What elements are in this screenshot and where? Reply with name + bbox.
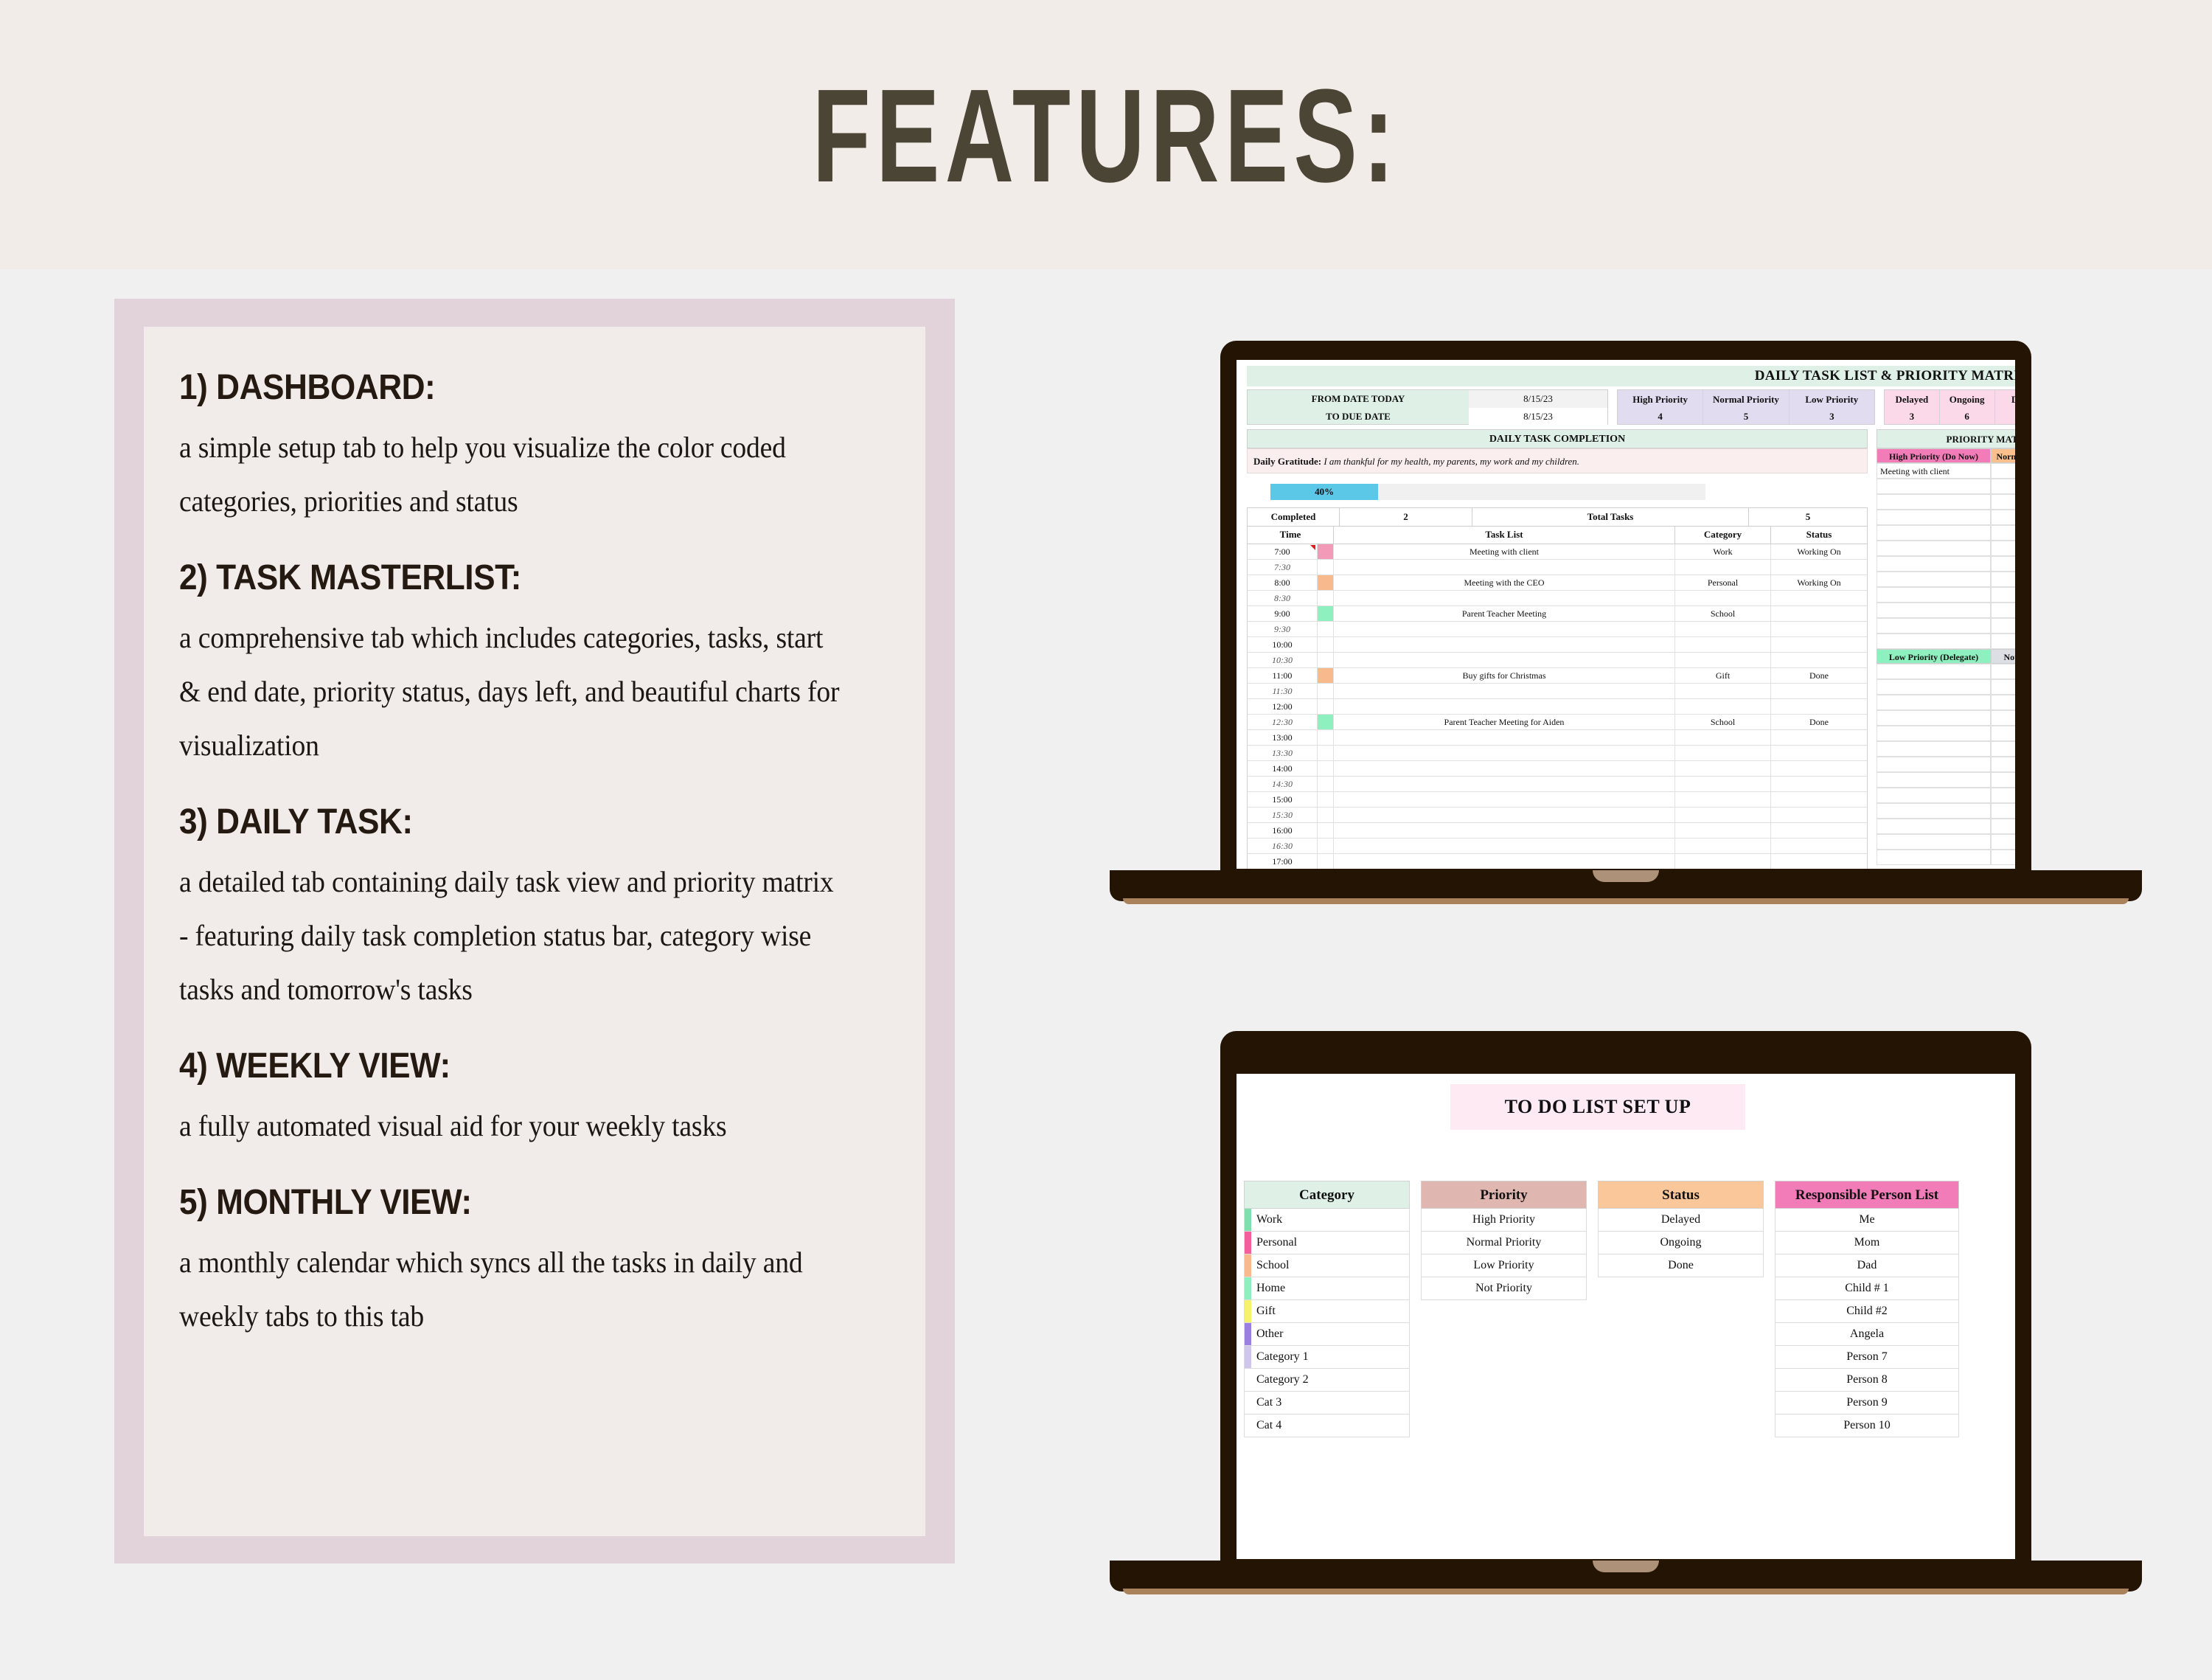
col-time: Time — [1248, 527, 1334, 544]
matrix-row[interactable] — [1877, 587, 2015, 603]
col-task: Task List — [1334, 527, 1675, 544]
row-task[interactable] — [1334, 653, 1675, 667]
row-time: 12:00 — [1248, 699, 1318, 714]
feature-heading: 4) WEEKLY VIEW: — [179, 1046, 833, 1087]
from-date-label: FROM DATE TODAY — [1248, 390, 1469, 408]
quadrant-cell-not[interactable] — [1991, 679, 2015, 695]
row-task[interactable] — [1334, 761, 1675, 776]
row-time: 17:00 — [1248, 854, 1318, 869]
quadrant-cell-normal[interactable] — [1991, 603, 2015, 618]
priority-matrix-header: PRIORITY MATRIX — [1877, 429, 2015, 448]
row-color-swatch — [1318, 637, 1334, 652]
table-row[interactable]: 15:30 — [1247, 808, 1868, 823]
column-header: Priority — [1421, 1181, 1587, 1209]
row-color-swatch — [1318, 761, 1334, 776]
feature-heading: 5) MONTHLY VIEW: — [179, 1182, 833, 1223]
feature-body: a comprehensive tab which includes categ… — [179, 611, 847, 772]
row-category[interactable] — [1675, 777, 1771, 791]
table-row[interactable]: 9:00Parent Teacher MeetingSchool — [1247, 606, 1868, 622]
row-task[interactable] — [1334, 823, 1675, 838]
matrix-row[interactable] — [1877, 664, 2015, 679]
quadrant-cell-high[interactable] — [1877, 603, 1991, 618]
row-status[interactable] — [1771, 730, 1867, 745]
row-status[interactable] — [1771, 746, 1867, 760]
feature-heading: 2) TASK MASTERLIST: — [179, 558, 833, 599]
row-time: 11:00 — [1248, 668, 1318, 683]
matrix-row[interactable] — [1877, 634, 2015, 649]
row-status[interactable] — [1771, 684, 1867, 698]
quadrant-cell-not[interactable] — [1991, 757, 2015, 772]
feature-body: a fully automated visual aid for your we… — [179, 1099, 847, 1153]
quadrant-cell-normal[interactable] — [1991, 618, 2015, 634]
quadrant-cell-high[interactable] — [1877, 556, 1991, 572]
row-category[interactable] — [1675, 684, 1771, 698]
list-item[interactable]: Cat 3 — [1244, 1392, 1410, 1415]
status-stat: Done5 — [1995, 390, 2016, 424]
list-item[interactable]: Child #2 — [1775, 1300, 1959, 1323]
list-item[interactable]: Person 10 — [1775, 1415, 1959, 1437]
row-status[interactable] — [1771, 854, 1867, 869]
category-color-stripe — [1245, 1232, 1251, 1254]
col-category: Category — [1675, 527, 1771, 544]
feature-item-3: 3) DAILY TASK: a detailed tab containing… — [179, 802, 890, 1016]
row-time: 13:30 — [1248, 746, 1318, 760]
row-color-swatch — [1318, 699, 1334, 714]
feature-item-4: 4) WEEKLY VIEW: a fully automated visual… — [179, 1046, 890, 1153]
row-time: 14:30 — [1248, 777, 1318, 791]
row-category[interactable] — [1675, 792, 1771, 807]
row-status[interactable] — [1771, 839, 1867, 853]
list-item[interactable]: Other — [1244, 1323, 1410, 1346]
matrix-row[interactable]: Meeting with client — [1877, 463, 2015, 479]
row-category[interactable] — [1675, 854, 1771, 869]
quadrant-cell-normal[interactable] — [1991, 634, 2015, 649]
row-task[interactable] — [1334, 777, 1675, 791]
quadrant-cell-not[interactable] — [1991, 803, 2015, 819]
from-date-value[interactable]: 8/15/23 — [1469, 390, 1607, 408]
row-task[interactable] — [1334, 622, 1675, 636]
quadrant-cell-low[interactable] — [1877, 819, 1991, 834]
to-date-label: TO DUE DATE — [1248, 408, 1469, 426]
features-card: 1) DASHBOARD: a simple setup tab to help… — [144, 327, 925, 1536]
quadrant-cell-not[interactable] — [1991, 834, 2015, 850]
feature-item-5: 5) MONTHLY VIEW: a monthly calendar whic… — [179, 1182, 890, 1343]
matrix-row[interactable] — [1877, 788, 2015, 803]
task-table-header: TimeTask ListCategoryStatus — [1247, 527, 1868, 544]
laptop-base-lip — [1123, 898, 2129, 904]
list-item[interactable]: Personal — [1244, 1232, 1410, 1254]
row-status[interactable] — [1771, 823, 1867, 838]
row-status[interactable]: Working On — [1771, 544, 1867, 559]
status-stat: Ongoing6 — [1940, 390, 1995, 424]
column-header: Category — [1244, 1181, 1410, 1209]
date-range-box: FROM DATE TODAY8/15/23TO DUE DATE8/15/23 — [1247, 389, 1608, 425]
sheet-title: DAILY TASK LIST & PRIORITY MATRIX — [1247, 366, 2015, 386]
matrix-row[interactable] — [1877, 819, 2015, 834]
matrix-row[interactable] — [1877, 741, 2015, 757]
priority-stat: Low Priority3 — [1790, 390, 1874, 424]
quadrant-cell-low[interactable] — [1877, 772, 1991, 788]
table-row[interactable]: 17:00 — [1247, 854, 1868, 869]
row-status[interactable]: Done — [1771, 715, 1867, 729]
quadrant-label-low[interactable]: Low Priority (Delegate) — [1877, 649, 1991, 664]
row-task[interactable]: Meeting with client — [1334, 544, 1675, 559]
priority-stat: High Priority4 — [1618, 390, 1703, 424]
laptop-screen-setup: TO DO LIST SET UPCategoryWorkPersonalSch… — [1237, 1074, 2015, 1559]
list-item[interactable]: Person 7 — [1775, 1346, 1959, 1369]
quadrant-cell-low[interactable] — [1877, 788, 1991, 803]
row-category[interactable] — [1675, 839, 1771, 853]
row-category[interactable] — [1675, 746, 1771, 760]
quadrant-cell-high[interactable] — [1877, 618, 1991, 634]
row-category[interactable] — [1675, 761, 1771, 776]
quadrant-cell-normal[interactable] — [1991, 572, 2015, 587]
matrix-row[interactable] — [1877, 572, 2015, 587]
table-row[interactable]: 13:30 — [1247, 746, 1868, 761]
completion-header: DAILY TASK COMPLETION — [1247, 429, 1868, 448]
spreadsheet-setup: TO DO LIST SET UPCategoryWorkPersonalSch… — [1237, 1074, 2015, 1559]
quadrant-cell-high[interactable] — [1877, 572, 1991, 587]
row-task[interactable] — [1334, 730, 1675, 745]
matrix-row[interactable] — [1877, 556, 2015, 572]
quadrant-cell-low[interactable] — [1877, 803, 1991, 819]
row-task[interactable] — [1334, 839, 1675, 853]
table-row[interactable]: 10:30 — [1247, 653, 1868, 668]
row-color-swatch — [1318, 668, 1334, 683]
laptop-setup: TO DO LIST SET UPCategoryWorkPersonalSch… — [1110, 1031, 2142, 1592]
list-item[interactable]: Work — [1244, 1209, 1410, 1232]
matrix-row[interactable] — [1877, 695, 2015, 710]
quadrant-cell-low[interactable] — [1877, 757, 1991, 772]
row-category[interactable] — [1675, 823, 1771, 838]
feature-item-2: 2) TASK MASTERLIST: a comprehensive tab … — [179, 558, 890, 772]
to-date-value[interactable]: 8/15/23 — [1469, 408, 1607, 426]
table-row[interactable]: 7:30 — [1247, 560, 1868, 575]
quadrant-cell-low[interactable] — [1877, 710, 1991, 726]
row-time: 16:30 — [1248, 839, 1318, 853]
row-task[interactable] — [1334, 560, 1675, 575]
quadrant-cell-high[interactable] — [1877, 494, 1991, 510]
table-row[interactable]: 12:30Parent Teacher Meeting for AidenSch… — [1247, 715, 1868, 730]
table-row[interactable]: 11:30 — [1247, 684, 1868, 699]
row-status[interactable] — [1771, 777, 1867, 791]
feature-heading: 3) DAILY TASK: — [179, 802, 833, 843]
matrix-top-headers: High Priority (Do Now)Normal Priority (S… — [1877, 448, 2015, 463]
row-time: 10:30 — [1248, 653, 1318, 667]
quadrant-cell-not[interactable] — [1991, 726, 2015, 741]
quadrant-cell-not[interactable] — [1991, 664, 2015, 679]
row-status[interactable]: Done — [1771, 668, 1867, 683]
matrix-row[interactable] — [1877, 772, 2015, 788]
row-status[interactable] — [1771, 560, 1867, 575]
table-row[interactable]: 11:00Buy gifts for ChristmasGiftDone — [1247, 668, 1868, 684]
row-category[interactable]: Work — [1675, 544, 1771, 559]
quadrant-cell-low[interactable] — [1877, 834, 1991, 850]
list-item[interactable]: Category 1 — [1244, 1346, 1410, 1369]
matrix-row[interactable] — [1877, 603, 2015, 618]
quadrant-cell-not[interactable] — [1991, 788, 2015, 803]
row-status[interactable] — [1771, 653, 1867, 667]
total-tasks-value: 5 — [1749, 508, 1867, 526]
row-color-swatch — [1318, 622, 1334, 636]
table-row[interactable]: 10:00 — [1247, 637, 1868, 653]
row-task[interactable]: Meeting with the CEO — [1334, 575, 1675, 590]
row-category[interactable]: Gift — [1675, 668, 1771, 683]
row-category[interactable] — [1675, 808, 1771, 822]
row-status[interactable] — [1771, 591, 1867, 605]
row-time: 12:30 — [1248, 715, 1318, 729]
feature-body: a simple setup tab to help you visualize… — [179, 420, 847, 528]
matrix-row[interactable] — [1877, 494, 2015, 510]
matrix-row[interactable] — [1877, 479, 2015, 494]
col-status: Status — [1771, 527, 1867, 544]
quadrant-cell-normal[interactable] — [1991, 510, 2015, 525]
table-row[interactable]: 8:30 — [1247, 591, 1868, 606]
row-color-swatch — [1318, 591, 1334, 605]
feature-body: a monthly calendar which syncs all the t… — [179, 1235, 847, 1343]
list-item[interactable]: Not Priority — [1421, 1277, 1587, 1300]
total-tasks-label: Total Tasks — [1472, 508, 1749, 526]
row-color-swatch — [1318, 560, 1334, 575]
matrix-row[interactable] — [1877, 850, 2015, 865]
quadrant-cell-low[interactable] — [1877, 695, 1991, 710]
row-task[interactable] — [1334, 746, 1675, 760]
matrix-row[interactable] — [1877, 726, 2015, 741]
row-task[interactable]: Parent Teacher Meeting for Aiden — [1334, 715, 1675, 729]
table-row[interactable]: 9:30 — [1247, 622, 1868, 637]
quadrant-cell-normal[interactable] — [1991, 541, 2015, 556]
laptop-daily-task: DAILY TASK LIST & PRIORITY MATRIXFROM DA… — [1110, 341, 2142, 901]
row-time: 8:00 — [1248, 575, 1318, 590]
row-time: 16:00 — [1248, 823, 1318, 838]
row-status[interactable]: Working On — [1771, 575, 1867, 590]
status-stats-row: Delayed3Ongoing6Done5Total Tas14 — [1884, 389, 2015, 425]
row-color-swatch — [1318, 777, 1334, 791]
matrix-row[interactable] — [1877, 803, 2015, 819]
laptop-screen-daily: DAILY TASK LIST & PRIORITY MATRIXFROM DA… — [1237, 360, 2015, 869]
setup-column-responsible-person-list: Responsible Person ListMeMomDadChild # 1… — [1775, 1181, 1959, 1437]
row-status[interactable] — [1771, 761, 1867, 776]
table-row[interactable]: 16:30 — [1247, 839, 1868, 854]
list-item[interactable]: Dad — [1775, 1254, 1959, 1277]
row-time: 9:00 — [1248, 606, 1318, 621]
row-color-swatch — [1318, 854, 1334, 869]
matrix-row[interactable] — [1877, 710, 2015, 726]
quadrant-cell-not[interactable] — [1991, 850, 2015, 865]
category-color-stripe — [1245, 1209, 1251, 1231]
matrix-row[interactable] — [1877, 618, 2015, 634]
quadrant-cell-high[interactable] — [1877, 525, 1991, 541]
quadrant-cell-low[interactable] — [1877, 679, 1991, 695]
row-color-swatch — [1318, 653, 1334, 667]
list-item[interactable]: Delayed — [1598, 1209, 1764, 1232]
list-item[interactable]: Cat 4 — [1244, 1415, 1410, 1437]
quadrant-cell-high[interactable] — [1877, 587, 1991, 603]
quadrant-cell-normal[interactable] — [1991, 587, 2015, 603]
row-color-swatch — [1318, 684, 1334, 698]
row-color-swatch — [1318, 730, 1334, 745]
list-item[interactable]: Done — [1598, 1254, 1764, 1277]
list-item[interactable]: Ongoing — [1598, 1232, 1764, 1254]
list-item[interactable]: High Priority — [1421, 1209, 1587, 1232]
row-task[interactable]: Buy gifts for Christmas — [1334, 668, 1675, 683]
row-task[interactable] — [1334, 854, 1675, 869]
list-item[interactable]: Person 9 — [1775, 1392, 1959, 1415]
completion-progress-fill: 40% — [1270, 484, 1378, 500]
row-category[interactable] — [1675, 560, 1771, 575]
list-item[interactable]: Home — [1244, 1277, 1410, 1300]
row-time: 7:00 — [1248, 544, 1318, 559]
list-item[interactable]: Mom — [1775, 1232, 1959, 1254]
table-row[interactable]: 16:00 — [1247, 823, 1868, 839]
quadrant-cell-high[interactable] — [1877, 541, 1991, 556]
row-status[interactable] — [1771, 622, 1867, 636]
category-color-stripe — [1245, 1254, 1251, 1277]
row-color-swatch — [1318, 746, 1334, 760]
category-color-stripe — [1245, 1300, 1251, 1322]
row-color-swatch — [1318, 839, 1334, 853]
quadrant-cell-not[interactable] — [1991, 741, 2015, 757]
category-color-stripe — [1245, 1277, 1251, 1299]
quadrant-label-not[interactable]: Not Priority (Postpone) — [1991, 649, 2015, 664]
priority-stat: Normal Priority5 — [1703, 390, 1789, 424]
feature-body: a detailed tab containing daily task vie… — [179, 855, 847, 1016]
daily-gratitude: Daily Gratitude: I am thankful for my he… — [1247, 448, 1868, 473]
feature-item-1: 1) DASHBOARD: a simple setup tab to help… — [179, 367, 890, 528]
row-time: 9:30 — [1248, 622, 1318, 636]
list-item[interactable]: Low Priority — [1421, 1254, 1587, 1277]
row-color-swatch — [1318, 606, 1334, 621]
matrix-row[interactable] — [1877, 757, 2015, 772]
quadrant-label-high[interactable]: High Priority (Do Now) — [1877, 448, 1991, 463]
completed-value: 2 — [1340, 508, 1472, 526]
row-color-swatch — [1318, 575, 1334, 590]
list-item[interactable]: Normal Priority — [1421, 1232, 1587, 1254]
matrix-row[interactable] — [1877, 525, 2015, 541]
row-status[interactable] — [1771, 792, 1867, 807]
list-item[interactable]: Person 8 — [1775, 1369, 1959, 1392]
list-item[interactable]: Gift — [1244, 1300, 1410, 1323]
table-row[interactable]: 12:00 — [1247, 699, 1868, 715]
column-header: Responsible Person List — [1775, 1181, 1959, 1209]
completed-label: Completed — [1248, 508, 1340, 526]
row-color-swatch — [1318, 792, 1334, 807]
row-category[interactable] — [1675, 699, 1771, 714]
quadrant-cell-not[interactable] — [1991, 819, 2015, 834]
setup-column-category: CategoryWorkPersonalSchoolHomeGiftOtherC… — [1244, 1181, 1410, 1437]
matrix-row[interactable] — [1877, 541, 2015, 556]
list-item[interactable]: Me — [1775, 1209, 1959, 1232]
feature-heading: 1) DASHBOARD: — [179, 367, 833, 409]
laptop-base-lip — [1123, 1589, 2129, 1594]
row-task[interactable] — [1334, 684, 1675, 698]
laptop-trackpad-notch — [1593, 870, 1659, 882]
row-status[interactable] — [1771, 606, 1867, 621]
matrix-row[interactable] — [1877, 510, 2015, 525]
list-item[interactable]: Category 2 — [1244, 1369, 1410, 1392]
setup-column-priority: PriorityHigh PriorityNormal PriorityLow … — [1421, 1181, 1587, 1300]
quadrant-cell-low[interactable] — [1877, 726, 1991, 741]
quadrant-cell-normal[interactable] — [1991, 556, 2015, 572]
quadrant-cell-normal[interactable] — [1991, 463, 2015, 479]
priority-stats-row: High Priority4Normal Priority5Low Priori… — [1617, 389, 1875, 425]
matrix-bottom-headers: Low Priority (Delegate)Not Priority (Pos… — [1877, 649, 2015, 664]
quadrant-cell-high[interactable] — [1877, 510, 1991, 525]
setup-column-status: StatusDelayedOngoingDone — [1598, 1181, 1764, 1277]
row-task[interactable] — [1334, 637, 1675, 652]
list-item[interactable]: School — [1244, 1254, 1410, 1277]
page-title: FEATURES: — [310, 70, 1902, 203]
row-category[interactable]: School — [1675, 606, 1771, 621]
table-row[interactable]: 13:00 — [1247, 730, 1868, 746]
quadrant-cell-low[interactable] — [1877, 850, 1991, 865]
row-status[interactable] — [1771, 699, 1867, 714]
row-category[interactable]: Personal — [1675, 575, 1771, 590]
quadrant-cell-not[interactable] — [1991, 695, 2015, 710]
quadrant-cell-high[interactable] — [1877, 479, 1991, 494]
column-header: Status — [1598, 1181, 1764, 1209]
row-status[interactable] — [1771, 637, 1867, 652]
table-row[interactable]: 15:00 — [1247, 792, 1868, 808]
table-row[interactable]: 14:30 — [1247, 777, 1868, 792]
quadrant-cell-not[interactable] — [1991, 710, 2015, 726]
row-time: 10:00 — [1248, 637, 1318, 652]
quadrant-cell-low[interactable] — [1877, 664, 1991, 679]
quadrant-cell-not[interactable] — [1991, 772, 2015, 788]
category-color-stripe — [1245, 1346, 1251, 1368]
laptop-trackpad-notch — [1593, 1561, 1659, 1572]
row-category[interactable] — [1675, 591, 1771, 605]
row-category[interactable]: School — [1675, 715, 1771, 729]
row-category[interactable] — [1675, 730, 1771, 745]
row-task[interactable] — [1334, 699, 1675, 714]
row-task[interactable] — [1334, 808, 1675, 822]
quadrant-cell-low[interactable] — [1877, 741, 1991, 757]
row-status[interactable] — [1771, 808, 1867, 822]
row-task[interactable] — [1334, 591, 1675, 605]
quadrant-cell-high[interactable]: Meeting with client — [1877, 463, 1991, 479]
row-time: 15:00 — [1248, 792, 1318, 807]
quadrant-cell-normal[interactable] — [1991, 494, 2015, 510]
row-time: 8:30 — [1248, 591, 1318, 605]
row-time: 11:30 — [1248, 684, 1318, 698]
quadrant-label-normal[interactable]: Normal Priority (Schedule) — [1991, 448, 2015, 463]
row-category[interactable] — [1675, 637, 1771, 652]
table-row[interactable]: 7:00Meeting with clientWorkWorking On — [1247, 544, 1868, 560]
list-item[interactable]: Child # 1 — [1775, 1277, 1959, 1300]
task-table: TimeTask ListCategoryStatus7:00Meeting w… — [1247, 527, 1868, 869]
row-time: 15:30 — [1248, 808, 1318, 822]
list-item[interactable]: Angela — [1775, 1323, 1959, 1346]
quadrant-cell-normal[interactable] — [1991, 525, 2015, 541]
table-row[interactable]: 8:00Meeting with the CEOPersonalWorking … — [1247, 575, 1868, 591]
row-task[interactable]: Parent Teacher Meeting — [1334, 606, 1675, 621]
table-row[interactable]: 14:00 — [1247, 761, 1868, 777]
row-color-swatch — [1318, 823, 1334, 838]
setup-title: TO DO LIST SET UP — [1450, 1084, 1745, 1130]
matrix-row[interactable] — [1877, 834, 2015, 850]
red-flag-icon — [1310, 545, 1315, 550]
quadrant-cell-high[interactable] — [1877, 634, 1991, 649]
matrix-row[interactable] — [1877, 679, 2015, 695]
quadrant-cell-normal[interactable] — [1991, 479, 2015, 494]
row-time: 7:30 — [1248, 560, 1318, 575]
row-category[interactable] — [1675, 622, 1771, 636]
row-category[interactable] — [1675, 653, 1771, 667]
row-color-swatch — [1318, 808, 1334, 822]
row-task[interactable] — [1334, 792, 1675, 807]
row-time: 14:00 — [1248, 761, 1318, 776]
